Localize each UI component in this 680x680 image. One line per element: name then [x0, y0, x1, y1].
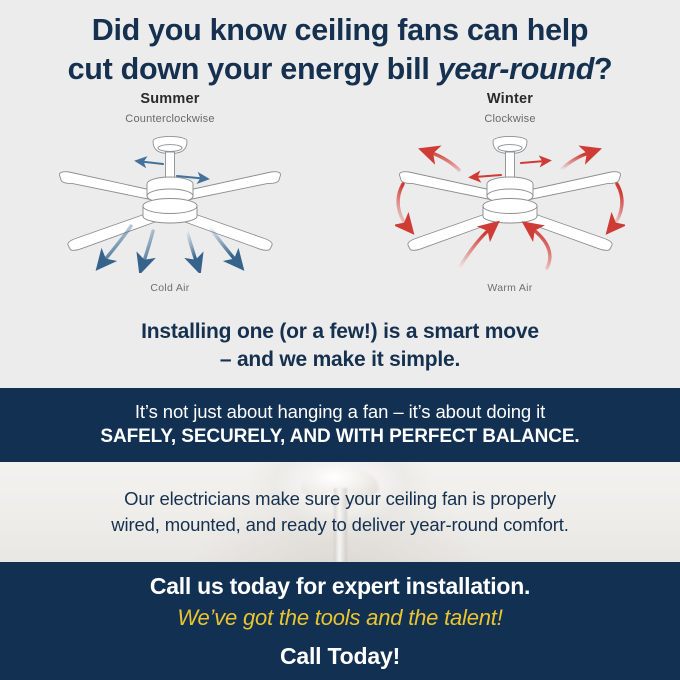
- summer-fan-svg: [55, 128, 285, 273]
- winter-air-label: Warm Air: [340, 282, 680, 294]
- diagram-winter-season: Winter: [340, 92, 680, 108]
- page-title: Did you know ceiling fans can help cut d…: [0, 0, 680, 88]
- headline-line-1: Did you know ceiling fans can help: [92, 13, 589, 47]
- diagram-summer-season: Summer: [0, 92, 340, 108]
- promo-poster: Did you know ceiling fans can help cut d…: [0, 0, 680, 680]
- summer-fan-illustration: [0, 128, 340, 273]
- winter-fan-svg: [395, 128, 625, 273]
- winter-canopy: [493, 136, 527, 153]
- headline-line-2-post: ?: [594, 52, 612, 86]
- value-proposition-band: It’s not just about hanging a fan – it’s…: [0, 388, 680, 462]
- winter-fan-illustration: [340, 128, 680, 273]
- cta-headline: Call us today for expert installation.: [150, 572, 530, 601]
- service-line-1: Our electricians make sure your ceiling …: [124, 486, 556, 512]
- headline-emphasis-year-round: year-round: [438, 52, 594, 86]
- hero-subheadline: Installing one (or a few!) is a smart mo…: [0, 318, 680, 373]
- headline-line-2-pre: cut down your energy bill: [68, 52, 438, 86]
- service-description-band: Our electricians make sure your ceiling …: [0, 462, 680, 562]
- cta-tagline: We’ve got the tools and the talent!: [177, 604, 502, 633]
- call-to-action-band: Call us today for expert installation. W…: [0, 562, 680, 680]
- value-prop-line-2: SAFELY, SECURELY, AND WITH PERFECT BALAN…: [100, 425, 579, 450]
- subhead-line-1: Installing one (or a few!) is a smart mo…: [0, 318, 680, 346]
- diagram-winter-direction: Clockwise: [340, 113, 680, 125]
- service-line-2: wired, mounted, and ready to deliver yea…: [111, 512, 568, 538]
- service-description-text: Our electricians make sure your ceiling …: [0, 462, 680, 562]
- summer-air-label: Cold Air: [0, 282, 340, 294]
- summer-motor-housing: [143, 177, 197, 223]
- diagram-summer: Summer Counterclockwise: [0, 92, 340, 307]
- diagram-summer-direction: Counterclockwise: [0, 113, 340, 125]
- value-prop-line-1: It’s not just about hanging a fan – it’s…: [135, 400, 545, 423]
- summer-canopy: [153, 136, 187, 153]
- hero-section: Did you know ceiling fans can help cut d…: [0, 0, 680, 388]
- fan-direction-diagrams: Summer Counterclockwise: [0, 92, 680, 307]
- winter-motor-housing: [483, 177, 537, 223]
- subhead-line-2: – and we make it simple.: [0, 346, 680, 374]
- diagram-winter: Winter Clockwise: [340, 92, 680, 307]
- call-today-button[interactable]: Call Today!: [280, 642, 400, 671]
